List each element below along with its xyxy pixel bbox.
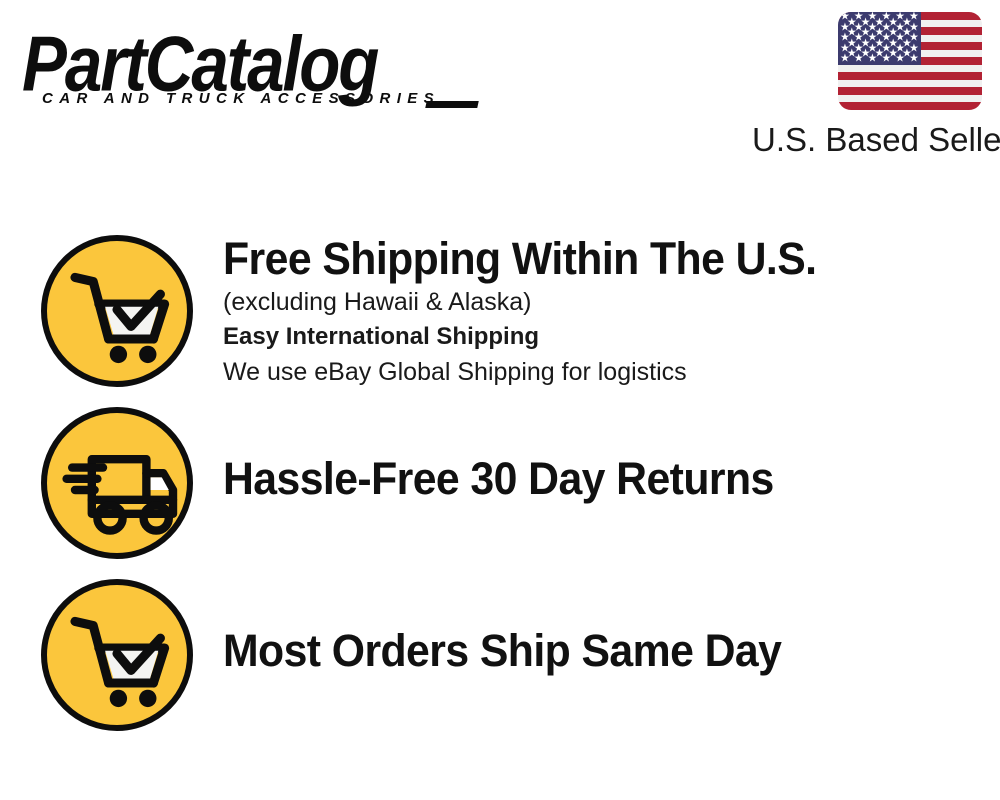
brand-tagline: CAR AND TRUCK ACCESSORIES [42, 90, 440, 107]
flag-star: ★ [895, 54, 905, 65]
feature-subtext-international-detail: We use eBay Global Shipping for logistic… [223, 355, 983, 389]
flag-star: ★ [868, 54, 878, 65]
tagline-rule [425, 101, 478, 108]
feature-heading: Hassle-Free 30 Day Returns [223, 453, 945, 505]
us-based-seller-block: ★★★★★★★★★★★★★★★★★★★★★★★★★★★★★★★★★★★★★★★★… [752, 12, 982, 159]
us-flag-icon: ★★★★★★★★★★★★★★★★★★★★★★★★★★★★★★★★★★★★★★★★… [838, 12, 982, 110]
flag-star: ★ [881, 54, 891, 65]
flag-star: ★ [840, 54, 850, 65]
us-based-seller-label: U.S. Based Seller [752, 121, 982, 159]
feature-heading: Free Shipping Within The U.S. [223, 233, 945, 285]
shopping-cart-check-icon [41, 235, 193, 387]
flag-stripe [838, 102, 982, 110]
flag-canton: ★★★★★★★★★★★★★★★★★★★★★★★★★★★★★★★★★★★★★★★★… [838, 12, 921, 65]
feature-text-returns: Hassle-Free 30 Day Returns [223, 453, 983, 505]
shopping-cart-check-icon [41, 579, 193, 731]
feature-row-returns: Hassle-Free 30 Day Returns [0, 397, 1000, 569]
feature-row-free-shipping: Free Shipping Within The U.S. (excluding… [0, 225, 1000, 397]
feature-text-same-day-shipping: Most Orders Ship Same Day [223, 625, 983, 677]
feature-heading: Most Orders Ship Same Day [223, 625, 945, 677]
feature-subtext-exclusions: (excluding Hawaii & Alaska) [223, 285, 983, 319]
flag-stripe [838, 87, 982, 95]
flag-star: ★ [909, 54, 919, 65]
seller-info-banner: PartCatalog CAR AND TRUCK ACCESSORIES ★★… [0, 0, 1000, 800]
feature-list: Free Shipping Within The U.S. (excluding… [0, 225, 1000, 741]
feature-text-free-shipping: Free Shipping Within The U.S. (excluding… [223, 233, 983, 389]
brand-logo: PartCatalog [22, 22, 492, 122]
flag-star: ★ [854, 54, 864, 65]
delivery-truck-icon [41, 407, 193, 559]
feature-subtext-international-title: Easy International Shipping [223, 319, 983, 355]
flag-stripe [838, 72, 982, 80]
feature-row-same-day-shipping: Most Orders Ship Same Day [0, 569, 1000, 741]
